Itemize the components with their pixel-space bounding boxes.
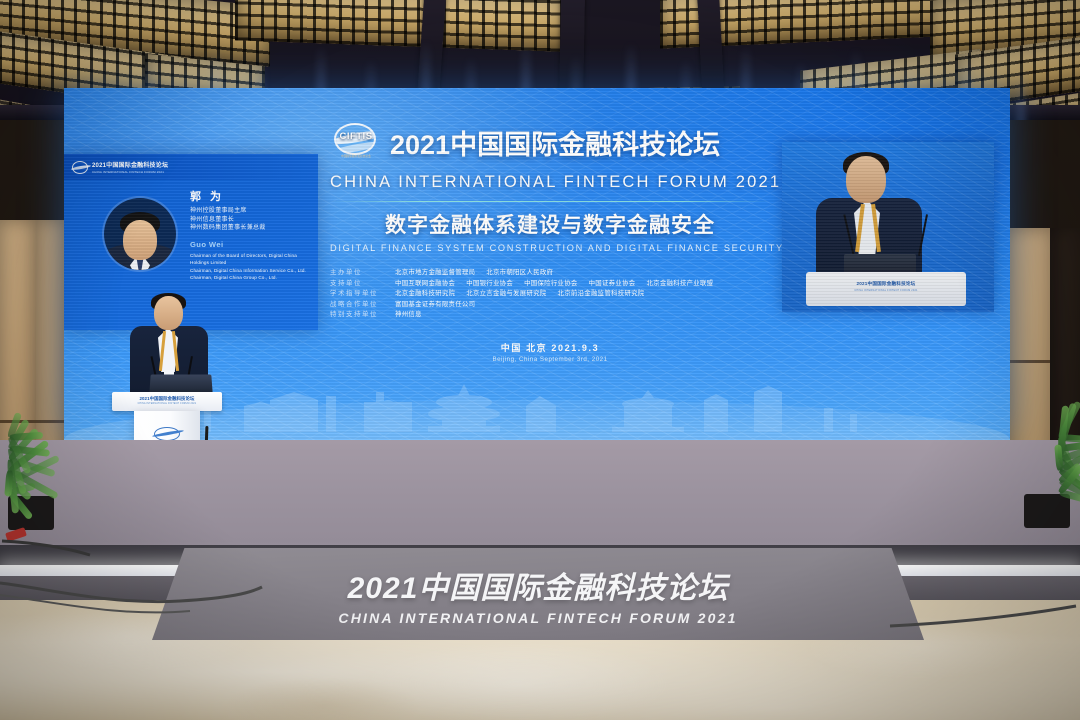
feed-speaker-figure bbox=[816, 156, 922, 286]
feed-speaker-suit bbox=[816, 198, 922, 290]
organizer-row-values: 北京金融科技研究院北京立言金融与发展研究院北京前沿金融监管科技研究院 bbox=[395, 289, 656, 300]
speaker-name-en: Guo Wei bbox=[190, 240, 314, 249]
feed-podium: 2021中国国际金融科技论坛 CHINA INTERNATIONAL FINTE… bbox=[806, 272, 966, 306]
ciftis-globe-icon: CIFTIS 中国国际服务贸易交易会 bbox=[330, 122, 382, 168]
organizer-row-key: 支持单位 bbox=[330, 279, 386, 290]
portrait-face bbox=[123, 220, 157, 260]
organizer-list: 主办单位北京市地方金融监督管理局北京市朝阳区人民政府支持单位中国互联网金融协会中… bbox=[330, 268, 770, 321]
organizer-row: 特别支持单位神州信息 bbox=[330, 310, 770, 321]
organizer-name: 神州信息 bbox=[395, 311, 422, 318]
ciftis-sub-cn: 中国国际服务贸易交易会 bbox=[330, 155, 382, 158]
speaker-text-block: 郭 为 神州控股董事局主席 神州信息董事长 神州数码集团董事长兼总裁 Guo W… bbox=[190, 188, 314, 281]
organizer-row: 战略合作单位富国基金证券有限责任公司 bbox=[330, 300, 770, 311]
speaker-title-en-line: Chairman of the Board of Directors, Digi… bbox=[190, 252, 314, 267]
podium-nameplate: 2021中国国际金融科技论坛 CHINA INTERNATIONAL FINTE… bbox=[112, 392, 222, 411]
organizer-name: 北京金融科技产业联盟 bbox=[646, 280, 713, 287]
feed-podium-label-en: CHINA INTERNATIONAL FINTECH FORUM 2021 bbox=[806, 289, 966, 292]
feed-microphone bbox=[918, 214, 928, 256]
decorative-plant-left bbox=[0, 400, 70, 530]
speaker-title-cn-line: 神州数码集团董事长兼总裁 bbox=[190, 224, 314, 233]
speaker-panel-header: 2021中国国际金融科技论坛 CHINA INTERNATIONAL FINTE… bbox=[64, 154, 318, 180]
organizer-row-key: 战略合作单位 bbox=[330, 300, 386, 311]
event-date-cn: 中国 北京 2021.9.3 bbox=[330, 341, 770, 354]
organizer-name: 中国银行业协会 bbox=[466, 280, 513, 287]
ciftis-logo-icon bbox=[72, 161, 88, 174]
speaker-titles-cn: 神州控股董事局主席 神州信息董事长 神州数码集团董事长兼总裁 bbox=[190, 207, 314, 233]
feed-speaker-badge bbox=[860, 250, 874, 267]
organizer-row: 主办单位北京市地方金融监督管理局北京市朝阳区人民政府 bbox=[330, 268, 770, 279]
forum-subtitle-en: DIGITAL FINANCE SYSTEM CONSTRUCTION AND … bbox=[330, 243, 770, 253]
speaker-panel-header-title-en: CHINA INTERNATIONAL FINTECH FORUM 2021 bbox=[92, 170, 168, 174]
podium-ciftis-icon bbox=[154, 427, 180, 441]
organizer-row-key: 特别支持单位 bbox=[330, 310, 386, 321]
organizer-row-key: 学术指导单位 bbox=[330, 289, 386, 300]
feed-mesh-texture bbox=[782, 142, 994, 312]
speaker-name-cn: 郭 为 bbox=[190, 188, 314, 204]
organizer-row-values: 神州信息 bbox=[395, 310, 433, 321]
forum-title-cn: 2021中国国际金融科技论坛 bbox=[390, 132, 720, 159]
speaker-title-cn-line: 神州信息董事长 bbox=[190, 216, 314, 225]
floor-cables-right bbox=[880, 600, 1080, 660]
forum-title-block: CIFTIS 中国国际服务贸易交易会 2021中国国际金融科技论坛 CHINA … bbox=[330, 122, 770, 363]
wall-seam bbox=[1008, 360, 1050, 363]
ciftis-wordmark: CIFTIS bbox=[335, 131, 377, 142]
feed-speaker-lanyard bbox=[871, 204, 881, 252]
speaker-portrait-avatar bbox=[104, 198, 176, 270]
feed-podium-label-cn: 2021中国国际金融科技论坛 bbox=[806, 281, 966, 287]
feed-speaker-shirt bbox=[854, 200, 880, 254]
live-camera-feed-panel: 2021中国国际金融科技论坛 CHINA INTERNATIONAL FINTE… bbox=[782, 142, 994, 312]
forum-title-en: CHINA INTERNATIONAL FINTECH FORUM 2021 bbox=[330, 173, 770, 192]
feed-speaker-head bbox=[846, 156, 886, 203]
event-dateline: 中国 北京 2021.9.3 Beijing, China September … bbox=[330, 341, 770, 363]
feed-microphone bbox=[843, 214, 854, 255]
organizer-name: 中国保险行业协会 bbox=[524, 280, 578, 287]
speaker-titles-en: Chairman of the Board of Directors, Digi… bbox=[190, 252, 314, 282]
podium-nameplate-cn: 2021中国国际金融科技论坛 bbox=[112, 396, 222, 402]
forum-subtitle-cn: 数字金融体系建设与数字金融安全 bbox=[330, 209, 770, 239]
speaker-title-en-line: Chairman, Digital China Information Serv… bbox=[190, 267, 314, 274]
speaker-panel-header-title-cn: 2021中国国际金融科技论坛 bbox=[92, 160, 168, 169]
organizer-name: 北京金融科技研究院 bbox=[395, 290, 455, 297]
organizer-name: 北京市地方金融监督管理局 bbox=[395, 269, 475, 276]
organizer-row: 学术指导单位北京金融科技研究院北京立言金融与发展研究院北京前沿金融监管科技研究院 bbox=[330, 289, 770, 300]
forum-title-row: CIFTIS 中国国际服务贸易交易会 2021中国国际金融科技论坛 bbox=[330, 122, 770, 168]
decorative-plant-right bbox=[1016, 400, 1080, 528]
organizer-name: 北京前沿金融监管科技研究院 bbox=[558, 290, 645, 297]
front-banner-title-en: CHINA INTERNATIONAL FINTECH FORUM 2021 bbox=[338, 610, 737, 626]
podium-nameplate-en: CHINA INTERNATIONAL FINTECH FORUM 2021 bbox=[112, 403, 222, 405]
organizer-name: 富国基金证券有限责任公司 bbox=[395, 301, 475, 308]
organizer-name: 中国证券业协会 bbox=[589, 280, 636, 287]
title-divider bbox=[330, 201, 770, 202]
plant-pot bbox=[1024, 494, 1070, 528]
front-banner-title-cn: 2021中国国际金融科技论坛 bbox=[348, 563, 729, 607]
organizer-name: 北京市朝阳区人民政府 bbox=[486, 269, 553, 276]
organizer-row-values: 中国互联网金融协会中国银行业协会中国保险行业协会中国证券业协会北京金融科技产业联… bbox=[395, 279, 724, 290]
conference-stage-photo: 2021中国国际金融科技论坛 CHINA INTERNATIONAL FINTE… bbox=[0, 0, 1080, 720]
feed-speaker-hair bbox=[843, 152, 889, 177]
feed-laptop bbox=[844, 254, 916, 274]
event-date-en: Beijing, China September 3rd, 2021 bbox=[330, 356, 770, 363]
organizer-name: 中国互联网金融协会 bbox=[395, 280, 455, 287]
organizer-row: 支持单位中国互联网金融协会中国银行业协会中国保险行业协会中国证券业协会北京金融科… bbox=[330, 279, 770, 290]
speaker-title-en-line: Chairman, Digital China Group Co., Ltd. bbox=[190, 274, 314, 281]
speaker-title-cn-line: 神州控股董事局主席 bbox=[190, 207, 314, 216]
organizer-name: 北京立言金融与发展研究院 bbox=[466, 290, 546, 297]
organizer-row-values: 富国基金证券有限责任公司 bbox=[395, 300, 486, 311]
feed-speaker-lanyard bbox=[855, 204, 865, 252]
floor-cables bbox=[0, 525, 300, 655]
organizer-row-key: 主办单位 bbox=[330, 268, 386, 279]
stage-speaker-head bbox=[154, 296, 183, 330]
organizer-row-values: 北京市地方金融监督管理局北京市朝阳区人民政府 bbox=[395, 268, 564, 279]
